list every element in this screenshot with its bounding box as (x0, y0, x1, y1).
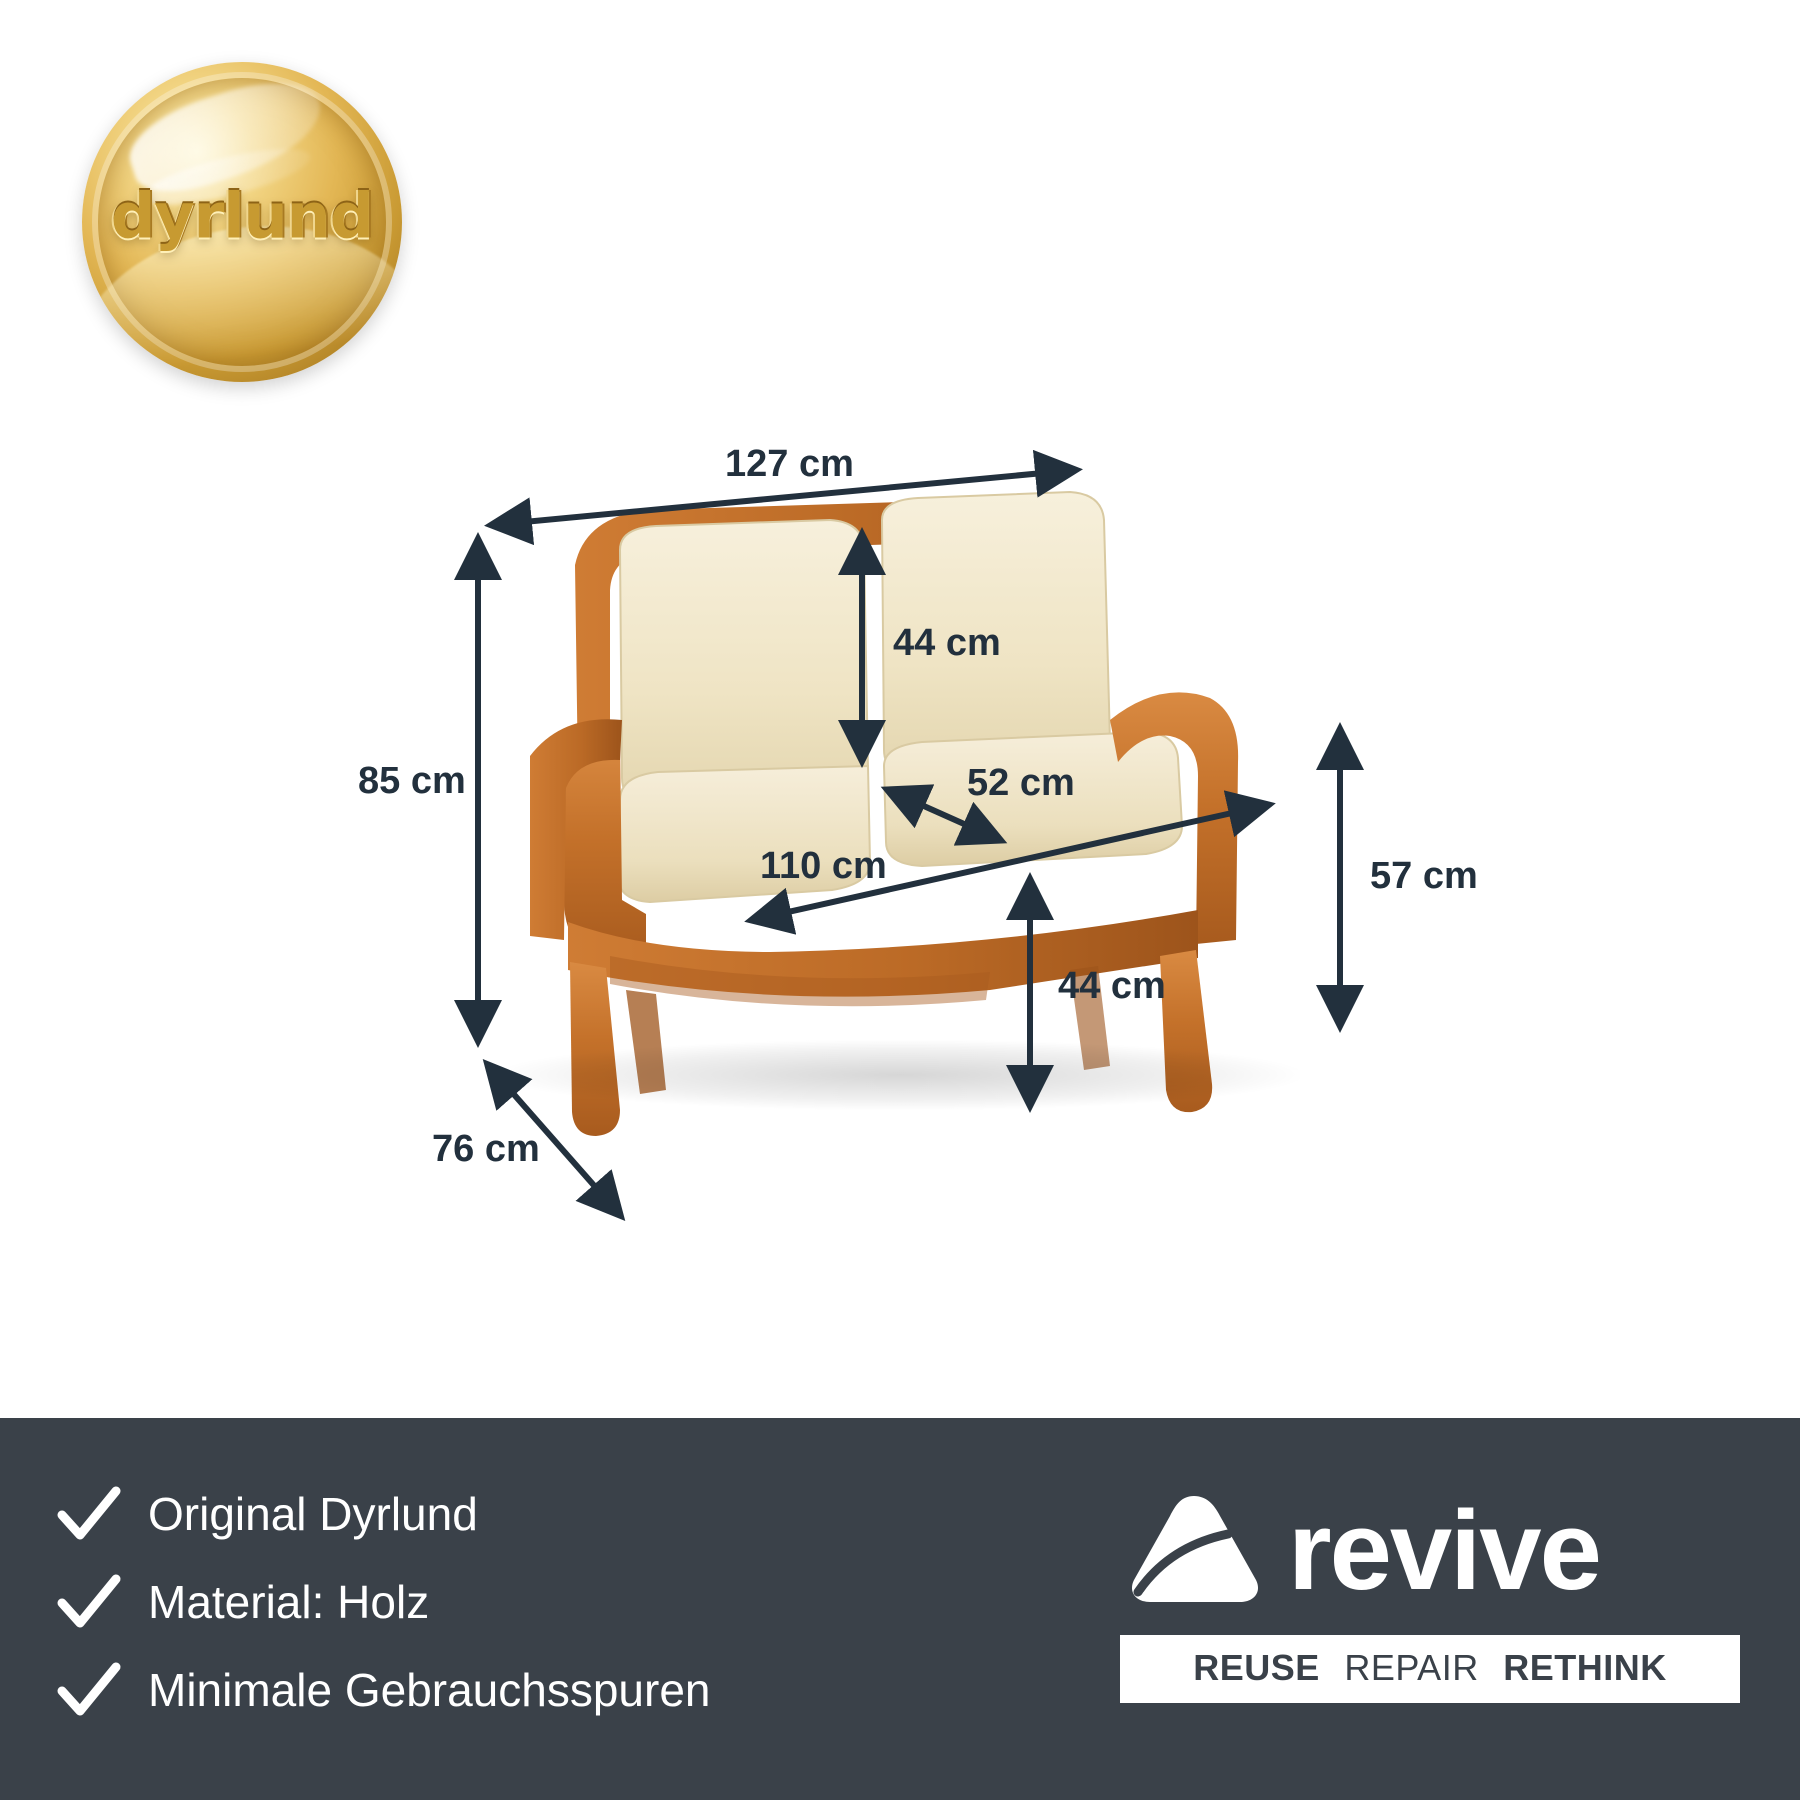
dimension-depth-76: 76 cm (432, 1128, 540, 1171)
checklist-item: Material: Holz (52, 1558, 711, 1646)
dimension-backrest-44: 44 cm (893, 622, 1001, 665)
revive-tagline: REUSE REPAIR RETHINK (1120, 1635, 1740, 1703)
checklist-item: Original Dyrlund (52, 1470, 711, 1558)
tagline-repair: REPAIR (1344, 1647, 1478, 1688)
dimension-seat-height-44: 44 cm (1058, 965, 1166, 1008)
dimension-seat-depth-52: 52 cm (967, 762, 1075, 805)
dimension-seat-width-110: 110 cm (760, 845, 887, 888)
check-icon (52, 1477, 126, 1551)
checklist-label: Minimale Gebrauchsspuren (148, 1663, 711, 1717)
feature-checklist: Original Dyrlund Material: Holz Minimale… (52, 1470, 711, 1734)
tagline-rethink: RETHINK (1503, 1647, 1667, 1688)
page-root: dyrlund (0, 0, 1800, 1800)
checklist-label: Material: Holz (148, 1575, 429, 1629)
dimension-width-127: 127 cm (725, 443, 854, 486)
tagline-reuse: REUSE (1193, 1647, 1320, 1688)
checklist-item: Minimale Gebrauchsspuren (52, 1646, 711, 1734)
dimension-height-85: 85 cm (358, 760, 466, 803)
checklist-label: Original Dyrlund (148, 1487, 478, 1541)
check-icon (52, 1653, 126, 1727)
revive-wordmark: revive (1288, 1495, 1600, 1607)
footer-bar: Original Dyrlund Material: Holz Minimale… (0, 1418, 1800, 1800)
check-icon (52, 1565, 126, 1639)
revive-logo: revive REUSE REPAIR RETHINK (1120, 1488, 1740, 1703)
revive-leaf-icon (1120, 1488, 1270, 1613)
dimension-arm-height-57: 57 cm (1370, 855, 1478, 898)
